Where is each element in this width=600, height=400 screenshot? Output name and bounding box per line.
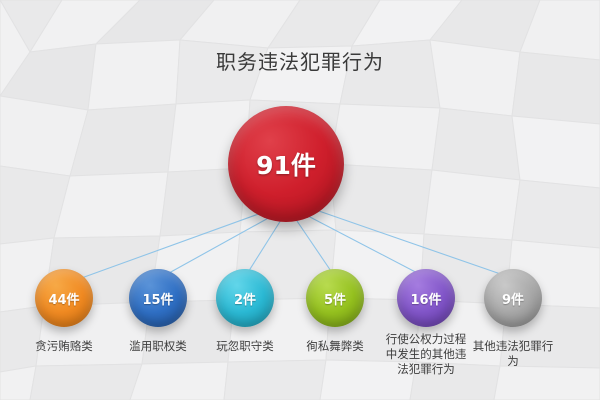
node-3[interactable]: 5件: [306, 269, 364, 327]
infographic-canvas: 职务违法犯罪行为 91件 44件 贪污贿赂类 15件 滥用职权类 2件 玩忽职守…: [0, 0, 600, 400]
node-0-value: 44件: [48, 289, 79, 308]
center-node[interactable]: 91件: [228, 106, 344, 222]
node-3-label: 徇私舞弊类: [292, 339, 378, 354]
node-1[interactable]: 15件: [129, 269, 187, 327]
node-4-label: 行使公权力过程中发生的其他违法犯罪行为: [383, 332, 469, 377]
node-2-value: 2件: [234, 289, 256, 308]
center-node-value: 91件: [256, 146, 316, 182]
node-3-value: 5件: [324, 289, 346, 308]
node-5-label: 其他违法犯罪行为: [470, 339, 556, 369]
node-1-label: 滥用职权类: [115, 339, 201, 354]
page-title: 职务违法犯罪行为: [0, 46, 600, 75]
node-2[interactable]: 2件: [216, 269, 274, 327]
node-4[interactable]: 16件: [397, 269, 455, 327]
node-0[interactable]: 44件: [35, 269, 93, 327]
node-5-value: 9件: [502, 289, 524, 308]
node-4-value: 16件: [410, 289, 441, 308]
node-2-label: 玩忽职守类: [202, 339, 288, 354]
node-1-value: 15件: [142, 289, 173, 308]
node-0-label: 贪污贿赂类: [21, 339, 107, 354]
node-5[interactable]: 9件: [484, 269, 542, 327]
